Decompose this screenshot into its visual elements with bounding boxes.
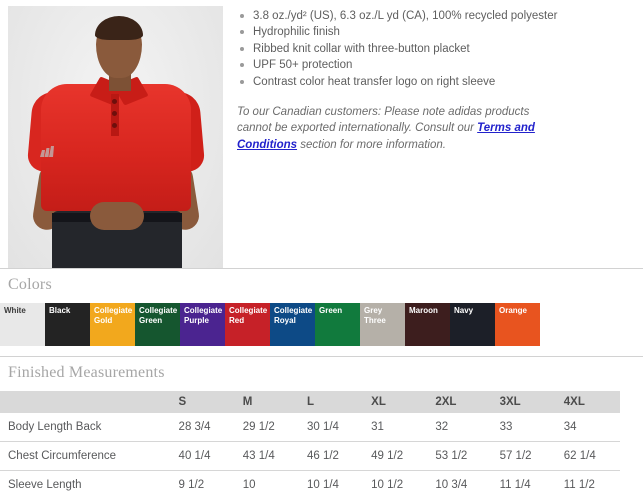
feature-list: 3.8 oz./yd² (US), 6.3 oz./L yd (CA), 100…: [237, 8, 639, 90]
color-swatch-label: Navy: [454, 306, 493, 316]
cell-value: 34: [556, 413, 620, 442]
color-swatch-label: Collegiate Purple: [184, 306, 223, 326]
color-swatch-label: Grey Three: [364, 306, 403, 326]
cell-value: 9 1/2: [171, 471, 235, 499]
cell-value: 10 3/4: [427, 471, 491, 499]
feature-item: Hydrophilic finish: [237, 24, 639, 40]
cell-value: 11 1/2: [556, 471, 620, 499]
table-header-row: S M L XL 2XL 3XL 4XL: [0, 391, 620, 413]
row-label: Body Length Back: [0, 413, 171, 442]
polo-button: [112, 111, 117, 116]
table-row: Chest Circumference 40 1/4 43 1/4 46 1/2…: [0, 442, 620, 471]
row-label: Sleeve Length: [0, 471, 171, 499]
cell-value: 29 1/2: [235, 413, 299, 442]
feature-item: UPF 50+ protection: [237, 57, 639, 73]
color-swatch-maroon[interactable]: Maroon: [405, 303, 450, 346]
color-swatch-collegiate-red[interactable]: Collegiate Red: [225, 303, 270, 346]
cell-value: 40 1/4: [171, 442, 235, 471]
product-photo[interactable]: [8, 6, 223, 268]
column-header-measurement: [0, 391, 171, 413]
cell-value: 49 1/2: [363, 442, 427, 471]
finished-measurements-table: S M L XL 2XL 3XL 4XL Body Length Back 28…: [0, 391, 620, 499]
column-header-3xl: 3XL: [492, 391, 556, 413]
adidas-logo-icon: [40, 146, 54, 157]
cell-value: 28 3/4: [171, 413, 235, 442]
canadian-customers-note: To our Canadian customers: Please note a…: [237, 104, 567, 153]
polo-button: [112, 123, 117, 128]
color-swatch-label: Collegiate Gold: [94, 306, 133, 326]
cell-value: 10: [235, 471, 299, 499]
color-swatch-label: Black: [49, 306, 88, 316]
cell-value: 62 1/4: [556, 442, 620, 471]
cell-value: 11 1/4: [492, 471, 556, 499]
cell-value: 57 1/2: [492, 442, 556, 471]
color-swatch-white[interactable]: White: [0, 303, 45, 346]
colors-section-title: Colors: [0, 269, 643, 294]
color-swatch-collegiate-gold[interactable]: Collegiate Gold: [90, 303, 135, 346]
color-swatch-label: Collegiate Green: [139, 306, 178, 326]
color-swatch-collegiate-green[interactable]: Collegiate Green: [135, 303, 180, 346]
color-swatch-label: White: [4, 306, 43, 316]
cell-value: 10 1/2: [363, 471, 427, 499]
color-swatch-label: Collegiate Red: [229, 306, 268, 326]
color-swatch-orange[interactable]: Orange: [495, 303, 540, 346]
cell-value: 30 1/4: [299, 413, 363, 442]
color-swatch-black[interactable]: Black: [45, 303, 90, 346]
column-header-s: S: [171, 391, 235, 413]
polo-button: [112, 99, 117, 104]
model-hands: [90, 202, 144, 230]
column-header-l: L: [299, 391, 363, 413]
feature-item: Ribbed knit collar with three-button pla…: [237, 41, 639, 57]
cell-value: 31: [363, 413, 427, 442]
cell-value: 53 1/2: [427, 442, 491, 471]
table-row: Sleeve Length 9 1/2 10 10 1/4 10 1/2 10 …: [0, 471, 620, 499]
color-swatch-collegiate-royal[interactable]: Collegiate Royal: [270, 303, 315, 346]
cell-value: 46 1/2: [299, 442, 363, 471]
note-text-after-link: section for more information.: [297, 139, 446, 151]
column-header-4xl: 4XL: [556, 391, 620, 413]
color-swatch-label: Green: [319, 306, 358, 316]
cell-value: 33: [492, 413, 556, 442]
product-overview: 3.8 oz./yd² (US), 6.3 oz./L yd (CA), 100…: [0, 0, 643, 268]
measurements-section-title: Finished Measurements: [0, 357, 643, 382]
row-label: Chest Circumference: [0, 442, 171, 471]
feature-item: 3.8 oz./yd² (US), 6.3 oz./L yd (CA), 100…: [237, 8, 639, 24]
column-header-2xl: 2XL: [427, 391, 491, 413]
color-swatch-green[interactable]: Green: [315, 303, 360, 346]
table-row: Body Length Back 28 3/4 29 1/2 30 1/4 31…: [0, 413, 620, 442]
color-swatch-navy[interactable]: Navy: [450, 303, 495, 346]
column-header-xl: XL: [363, 391, 427, 413]
color-swatch-label: Orange: [499, 306, 538, 316]
cell-value: 43 1/4: [235, 442, 299, 471]
color-swatch-label: Collegiate Royal: [274, 306, 313, 326]
cell-value: 10 1/4: [299, 471, 363, 499]
color-swatch-list: White Black Collegiate Gold Collegiate G…: [0, 303, 643, 346]
column-header-m: M: [235, 391, 299, 413]
color-swatch-grey-three[interactable]: Grey Three: [360, 303, 405, 346]
product-photo-image: [8, 6, 223, 268]
feature-item: Contrast color heat transfer logo on rig…: [237, 74, 639, 90]
cell-value: 32: [427, 413, 491, 442]
color-swatch-label: Maroon: [409, 306, 448, 316]
color-swatch-collegiate-purple[interactable]: Collegiate Purple: [180, 303, 225, 346]
product-details: 3.8 oz./yd² (US), 6.3 oz./L yd (CA), 100…: [223, 0, 643, 165]
